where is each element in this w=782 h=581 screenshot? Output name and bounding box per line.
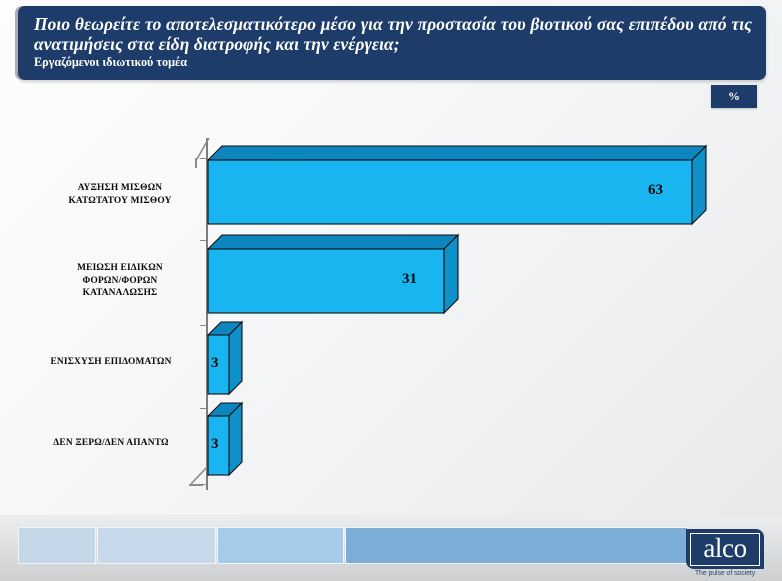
- bar-category-line: ΚΑΤΩΤΑΤΟΥ ΜΙΣΘΟΥ: [44, 195, 196, 208]
- footer-block-3: [217, 527, 344, 564]
- axis-tick: [200, 325, 207, 326]
- axis-tick: [200, 158, 207, 159]
- bar-category-line: ΜΕΙΩΣΗ ΕΙΔΙΚΩΝ: [44, 262, 196, 275]
- axis-tick: [200, 484, 207, 485]
- bar-3d-shape: [208, 146, 706, 224]
- bar-value-label: 63: [648, 182, 663, 199]
- unit-badge: %: [711, 85, 757, 108]
- bar-category-line: ΔΕΝ ΞΕΡΩ/ΔΕΝ ΑΠΑΝΤΩ: [26, 437, 196, 450]
- bar-category-label: ΜΕΙΩΣΗ ΕΙΔΙΚΩΝ ΦΟΡΩΝ/ΦΟΡΩΝ ΚΑΤΑΝΑΛΩΣΗΣ: [44, 262, 196, 300]
- axis-tick: [200, 240, 207, 241]
- alco-logo: alco: [686, 529, 764, 569]
- chart-plot-area: 63 ΑΥΞΗΣΗ ΜΙΣΘΩΝ ΚΑΤΩΤΑΤΟΥ ΜΙΣΘΟΥ 31 ΜΕΙ…: [0, 110, 782, 500]
- page-subtitle: Εργαζόμενοι ιδιωτικού τομέα: [34, 55, 752, 70]
- slide: Ποιο θεωρείτε το αποτελεσματικότερο μέσο…: [0, 0, 782, 581]
- axis-bottom-diagonal: [190, 465, 210, 493]
- bar-3d-shape: [208, 235, 458, 313]
- alco-logo-tagline: The pulse of society: [686, 570, 764, 577]
- bar-category-line: ΑΥΞΗΣΗ ΜΙΣΘΩΝ: [44, 182, 196, 195]
- bar-category-line: ΦΟΡΩΝ/ΦΟΡΩΝ: [44, 275, 196, 288]
- bar-value-label: 3: [211, 436, 219, 453]
- bar-group: 63: [208, 146, 706, 224]
- bar-category-line: ΕΝΙΣΧΥΣΗ ΕΠΙΔΟΜΑΤΩΝ: [26, 356, 196, 369]
- alco-logo-text: alco: [703, 535, 746, 562]
- bar-category-line: ΚΑΤΑΝΑΛΩΣΗΣ: [44, 287, 196, 300]
- footer-divider: [0, 515, 782, 516]
- axis-top-stub: [195, 158, 197, 168]
- alco-logo-frame: alco: [690, 533, 760, 566]
- footer: alco The pulse of society: [0, 515, 782, 581]
- bar-group: 31: [208, 235, 458, 313]
- footer-block-4: [345, 527, 688, 564]
- title-band: Ποιο θεωρείτε το αποτελεσματικότερο μέσο…: [18, 6, 766, 80]
- bar-value-label: 3: [211, 355, 219, 372]
- footer-block-2: [97, 527, 216, 564]
- bar-category-label: ΔΕΝ ΞΕΡΩ/ΔΕΝ ΑΠΑΝΤΩ: [26, 437, 196, 450]
- axis-tick: [200, 408, 207, 409]
- footer-block-1: [18, 527, 96, 564]
- bar-category-label: ΑΥΞΗΣΗ ΜΙΣΘΩΝ ΚΑΤΩΤΑΤΟΥ ΜΙΣΘΟΥ: [44, 182, 196, 207]
- bar-category-label: ΕΝΙΣΧΥΣΗ ΕΠΙΔΟΜΑΤΩΝ: [26, 356, 196, 369]
- bar-value-label: 31: [402, 271, 417, 288]
- page-title: Ποιο θεωρείτε το αποτελεσματικότερο μέσο…: [34, 14, 752, 54]
- bar-group: 3: [208, 322, 242, 394]
- bar-group: 3: [208, 403, 242, 475]
